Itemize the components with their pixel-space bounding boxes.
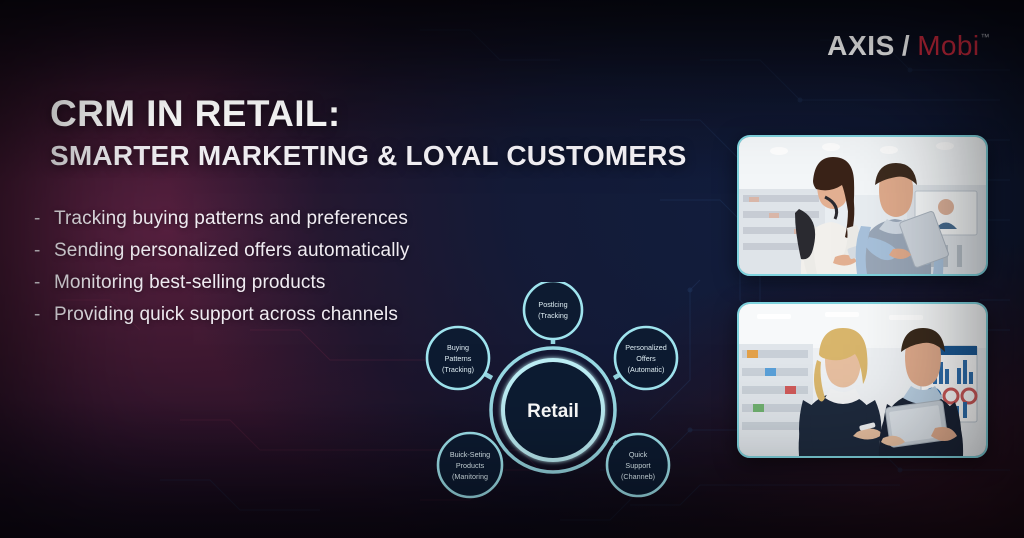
bullet-marker-icon: - xyxy=(34,205,54,233)
list-item-label: Sending personalized offers automaticall… xyxy=(54,237,409,265)
diagram-node-bottom-right[interactable]: Quick Support (Channeb) xyxy=(607,434,669,496)
diagram-node-top-line2: (Tracking xyxy=(538,311,568,320)
diagram-node-bottom-left-line2: Products xyxy=(456,461,485,470)
retail-hub-diagram: Retail Postlcing (Tracking Personalized … xyxy=(418,282,688,517)
brand-separator: / xyxy=(902,30,910,62)
page-title: CRM IN RETAIL: xyxy=(50,94,710,135)
diagram-node-right-line1: Personalized xyxy=(625,343,667,352)
headline-block: CRM IN RETAIL: SMARTER MARKETING & LOYAL… xyxy=(50,94,710,172)
photo-retail-staff-tablet xyxy=(737,302,988,458)
diagram-node-bottom-right-line1: Quick xyxy=(629,450,648,459)
list-item: - Tracking buying patterns and preferenc… xyxy=(34,205,504,233)
bullet-marker-icon: - xyxy=(34,269,54,297)
diagram-node-left-line3: (Tracking) xyxy=(442,365,474,374)
diagram-node-bottom-right-line2: Support xyxy=(625,461,650,470)
diagram-node-top[interactable]: Postlcing (Tracking xyxy=(524,282,582,339)
diagram-node-right[interactable]: Personalized Offers (Automatic) xyxy=(615,327,677,389)
list-item-label: Tracking buying patterns and preferences xyxy=(54,205,408,233)
diagram-node-bottom-right-line3: (Channeb) xyxy=(621,472,655,481)
bullet-marker-icon: - xyxy=(34,301,54,329)
diagram-node-right-line3: (Automatic) xyxy=(628,365,665,374)
trademark-icon: ™ xyxy=(981,32,991,42)
diagram-node-left-line2: Patterns xyxy=(445,354,472,363)
diagram-node-bottom-left-line1: Buick-Seting xyxy=(450,450,490,459)
slide-canvas: AXIS / Mobi ™ CRM IN RETAIL: SMARTER MAR… xyxy=(0,0,1024,538)
diagram-node-bottom-left[interactable]: Buick-Seting Products (Manitoring xyxy=(438,433,502,497)
diagram-node-top-line1: Postlcing xyxy=(538,300,567,309)
diagram-center-label: Retail xyxy=(527,401,579,422)
brand-logo: AXIS / Mobi ™ xyxy=(827,30,990,62)
brand-name-secondary: Mobi xyxy=(917,30,979,62)
list-item-label: Providing quick support across channels xyxy=(54,301,398,329)
bullet-marker-icon: - xyxy=(34,237,54,265)
page-subtitle: SMARTER MARKETING & LOYAL CUSTOMERS xyxy=(50,139,710,172)
list-item: - Sending personalized offers automatica… xyxy=(34,237,504,265)
diagram-node-left-line1: Buying xyxy=(447,343,469,352)
diagram-node-bottom-left-line3: (Manitoring xyxy=(452,472,488,481)
diagram-node-right-line2: Offers xyxy=(636,354,656,363)
diagram-node-left[interactable]: Buying Patterns (Tracking) xyxy=(427,327,489,389)
photo-retail-couple-phones xyxy=(737,135,988,276)
list-item-label: Monitoring best-selling products xyxy=(54,269,325,297)
brand-name-primary: AXIS xyxy=(827,30,895,62)
